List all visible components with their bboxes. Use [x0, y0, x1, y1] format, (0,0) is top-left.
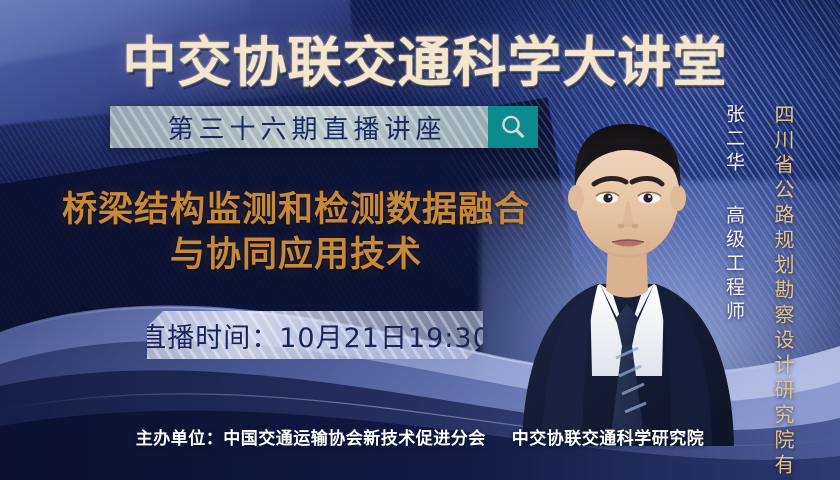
- footer-organizer-2: 中交协联交通科学研究院: [512, 429, 705, 449]
- lecture-title-line-2: 与协同应用技术: [36, 233, 556, 278]
- episode-label: 第三十六期直播讲座: [110, 106, 488, 148]
- speaker-name: 张二华: [721, 104, 748, 176]
- broadcast-time-box: 直播时间：10月21日19:30: [147, 311, 483, 359]
- episode-bar: 第三十六期直播讲座: [110, 106, 538, 148]
- livestream-poster: 中交协联交通科学大讲堂 第三十六期直播讲座 桥梁结构监测和检测数据融合 与协同应…: [0, 0, 840, 480]
- footer-organizer-1: 中国交通运输协会新技术促进分会: [223, 429, 486, 449]
- lecture-title: 桥梁结构监测和检测数据融合 与协同应用技术: [36, 188, 556, 278]
- footer-prefix: 主办单位：: [136, 429, 224, 449]
- footer-organizers: 主办单位：中国交通运输协会新技术促进分会中交协联交通科学研究院: [0, 424, 840, 449]
- broadcast-time-label: 直播时间：10月21日19:30: [147, 316, 483, 355]
- search-button[interactable]: [488, 106, 538, 148]
- search-icon: [499, 113, 527, 141]
- lecture-title-line-1: 桥梁结构监测和检测数据融合: [36, 188, 556, 233]
- speaker-role: 高级工程师: [721, 205, 748, 325]
- page-title: 中交协联交通科学大讲堂: [0, 18, 840, 97]
